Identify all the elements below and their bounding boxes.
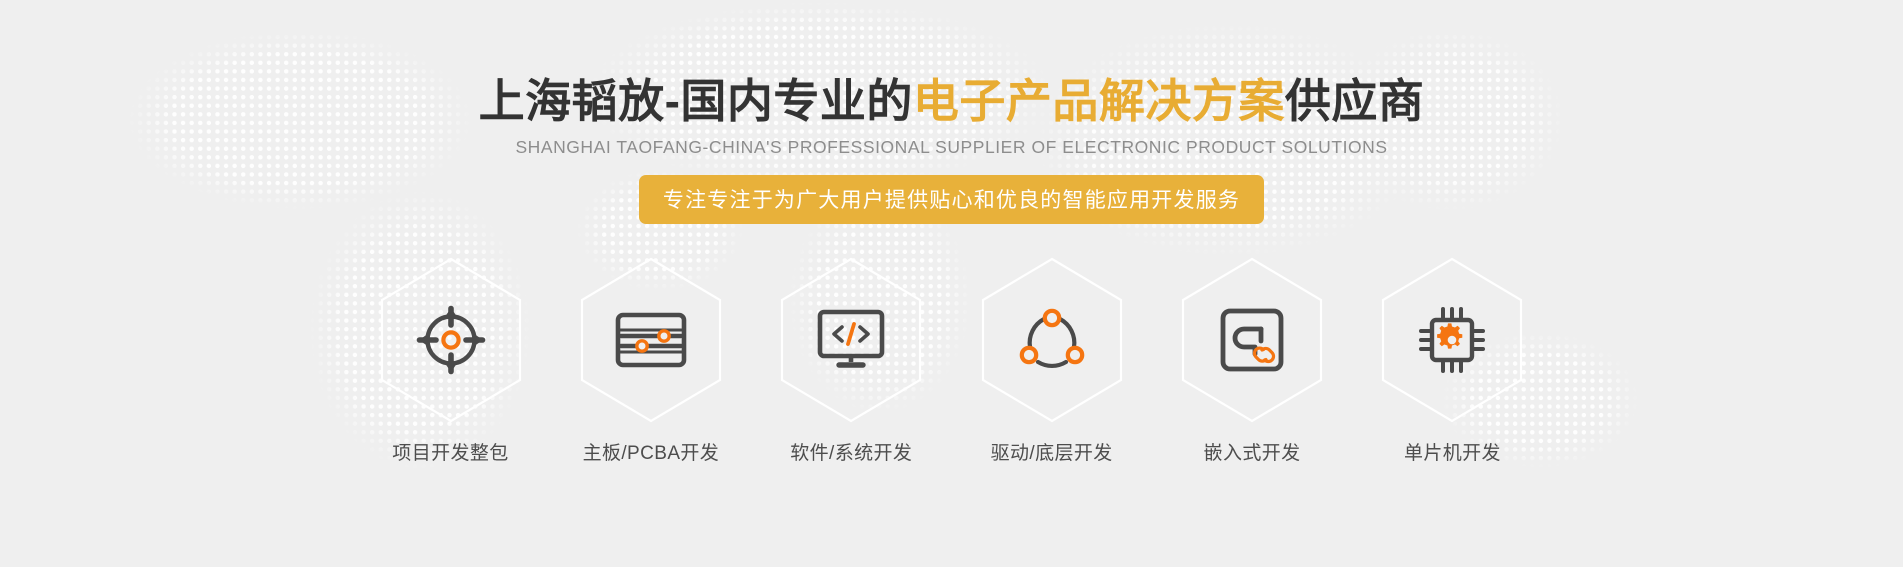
hexagon-frame-4 bbox=[979, 256, 1125, 424]
tagline-badge: 专注专注于为广大用户提供贴心和优良的智能应用开发服务 bbox=[639, 175, 1264, 224]
headline-part-highlight: 电子产品解决方案 bbox=[913, 75, 1285, 127]
tagline-pill-wrap: 专注专注于为广大用户提供贴心和优良的智能应用开发服务 bbox=[0, 175, 1903, 224]
service-label: 驱动/底层开发 bbox=[991, 438, 1113, 465]
service-item-driver-lowlevel[interactable]: 驱动/底层开发 bbox=[963, 256, 1141, 465]
page-title: 上海韬放-国内专业的电子产品解决方案供应商 bbox=[0, 74, 1903, 128]
service-list: 项目开发整包 bbox=[362, 256, 1542, 465]
hexagon-frame-3 bbox=[778, 256, 924, 424]
hero-banner: 上海韬放-国内专业的电子产品解决方案供应商 SHANGHAI TAOFANG-C… bbox=[0, 0, 1903, 567]
hexagon-frame-5 bbox=[1179, 256, 1325, 424]
pcb-board-icon bbox=[615, 304, 687, 376]
hexagon-frame-2 bbox=[578, 256, 724, 424]
service-item-mcu[interactable]: 单片机开发 bbox=[1363, 256, 1541, 465]
hero-text-block: 上海韬放-国内专业的电子产品解决方案供应商 SHANGHAI TAOFANG-C… bbox=[0, 74, 1903, 224]
service-label: 软件/系统开发 bbox=[790, 438, 912, 465]
service-label: 嵌入式开发 bbox=[1204, 438, 1301, 465]
service-item-software-system[interactable]: 软件/系统开发 bbox=[762, 256, 940, 465]
service-item-embedded[interactable]: 嵌入式开发 bbox=[1163, 256, 1341, 465]
mcu-gear-icon bbox=[1416, 304, 1488, 376]
service-label: 项目开发整包 bbox=[392, 438, 508, 465]
headline-part-before: 上海韬放-国内专业的 bbox=[479, 75, 913, 127]
service-item-project-package[interactable]: 项目开发整包 bbox=[362, 256, 540, 465]
service-label: 主板/PCBA开发 bbox=[583, 438, 720, 465]
service-label: 单片机开发 bbox=[1404, 438, 1501, 465]
crosshair-target-icon bbox=[415, 304, 487, 376]
headline-part-after: 供应商 bbox=[1285, 75, 1425, 127]
embedded-chip-link-icon bbox=[1216, 304, 1288, 376]
hexagon-frame-6 bbox=[1379, 256, 1525, 424]
hexagon-frame-1 bbox=[378, 256, 524, 424]
page-subtitle: SHANGHAI TAOFANG-CHINA'S PROFESSIONAL SU… bbox=[0, 137, 1903, 158]
network-nodes-icon bbox=[1016, 304, 1088, 376]
service-item-pcba[interactable]: 主板/PCBA开发 bbox=[562, 256, 740, 465]
monitor-code-icon bbox=[815, 304, 887, 376]
